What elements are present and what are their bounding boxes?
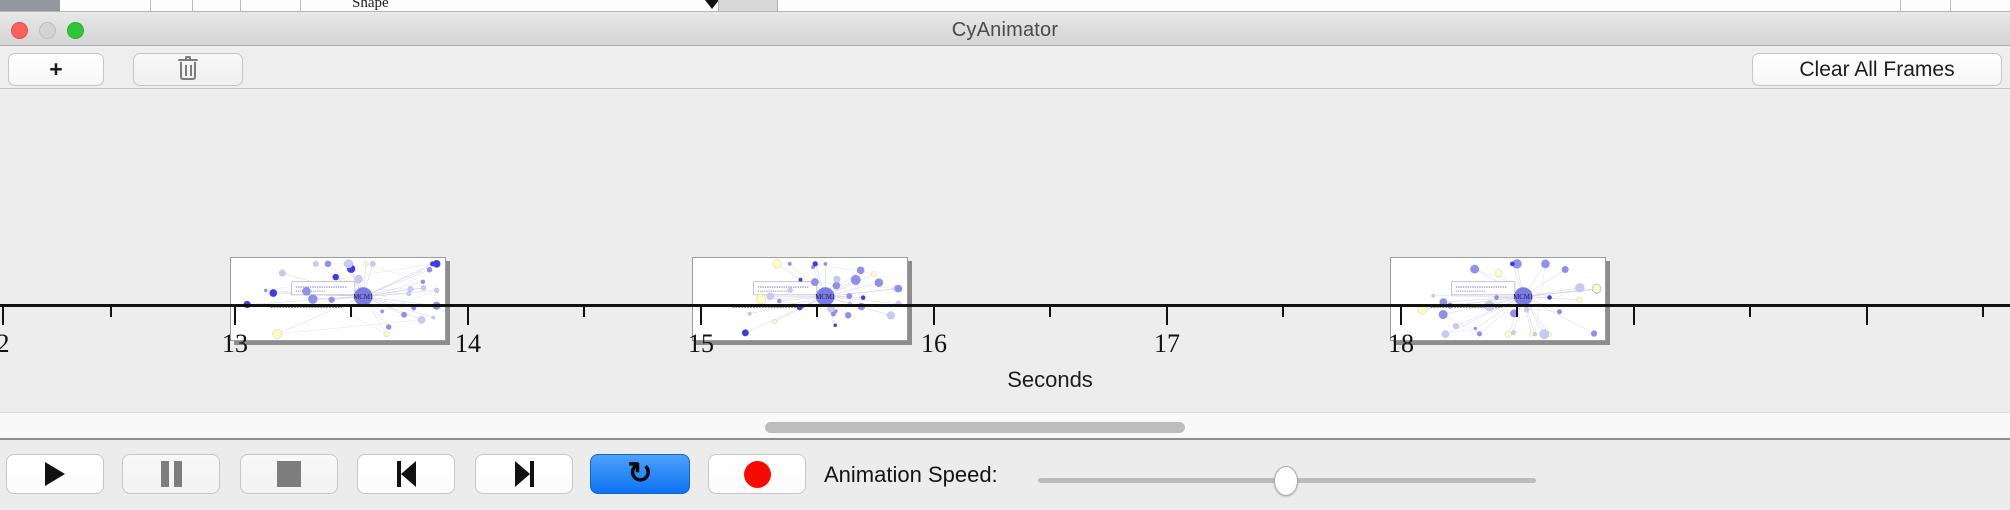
axis-tick-label: 15 [688,329,714,359]
title-bar[interactable]: CyAnimator [0,12,2010,46]
plus-icon: + [49,56,62,83]
pause-button[interactable] [122,454,220,494]
timeline-axis [0,304,2010,307]
timeline-scrollbar[interactable] [0,412,2010,440]
stop-icon [277,461,301,487]
background-divider [1900,0,1901,12]
keyframe-thumbnail[interactable]: MCM1 [692,257,908,341]
axis-tick-major [234,307,236,325]
record-button[interactable] [708,454,806,494]
keyframe-thumbnail[interactable]: MCM1 [1390,257,1606,341]
axis-tick-minor [1282,307,1284,317]
pause-icon [161,461,182,487]
axis-tick-minor [1749,307,1751,317]
axis-tick-minor [1049,307,1051,317]
background-divider [192,0,193,12]
axis-title: Seconds [0,367,2010,393]
background-caret-icon [705,0,719,9]
axis-tick-label: 2 [0,329,10,359]
axis-tick-minor [110,307,112,317]
axis-tick-label: 14 [455,329,481,359]
animation-speed-slider[interactable] [1038,478,1536,483]
axis-tick-minor [1516,307,1518,317]
axis-tick-minor [816,307,818,317]
add-frame-button[interactable]: + [8,53,104,86]
record-icon [744,461,771,488]
timeline-panel[interactable]: MCM1 MCM1 MCM1 2131415161718 Seconds [0,89,2010,412]
loop-button[interactable]: ↻ [590,454,690,494]
background-divider [1950,0,1951,12]
next-frame-button[interactable] [475,454,573,494]
svg-text:MCM1: MCM1 [815,294,835,301]
loop-icon: ↻ [627,459,652,489]
axis-tick-major [467,307,469,325]
axis-title-label: Seconds [1007,367,1093,392]
animation-speed-label: Animation Speed: [824,462,998,488]
background-divider [300,0,301,12]
background-window-strip: Shape [0,0,2010,12]
svg-text:MCM1: MCM1 [353,294,373,301]
background-strip-dark-block [0,0,60,12]
axis-tick-label: 18 [1388,329,1414,359]
axis-tick-major [1866,307,1868,325]
skip-forward-icon [515,461,534,487]
trash-icon [178,58,198,81]
axis-tick-major [700,307,702,325]
stop-button[interactable] [240,454,338,494]
delete-frame-button[interactable] [133,53,243,86]
window-title: CyAnimator [0,19,2010,42]
clear-all-frames-button[interactable]: Clear All Frames [1752,53,2002,86]
axis-tick-major [933,307,935,325]
axis-tick-major [1633,307,1635,325]
clear-all-frames-label: Clear All Frames [1799,58,1954,82]
skip-backward-icon [397,461,416,487]
toolbar: + Clear All Frames [0,46,2010,89]
axis-tick-major [1166,307,1168,325]
play-button[interactable] [6,454,104,494]
background-divider [150,0,151,12]
play-icon [45,462,65,486]
axis-tick-minor [350,307,352,317]
background-tab-label: Shape [352,0,389,12]
background-slab [718,0,778,12]
background-divider [240,0,241,12]
timeline-scrollbar-thumb[interactable] [765,422,1185,433]
axis-tick-major [2,307,4,325]
axis-tick-label: 16 [921,329,947,359]
axis-tick-label: 17 [1154,329,1180,359]
playback-controls: ↻ Animation Speed: [0,442,2010,510]
previous-frame-button[interactable] [357,454,455,494]
axis-tick-minor [1982,307,1984,317]
axis-tick-minor [583,307,585,317]
animation-speed-slider-knob[interactable] [1274,466,1298,496]
cyanimator-window: Shape CyAnimator + Clear All Frames [0,0,2010,510]
svg-text:MCM1: MCM1 [1513,294,1533,301]
keyframe-thumbnail[interactable]: MCM1 [230,257,446,341]
axis-tick-major [1400,307,1402,325]
axis-tick-label: 13 [222,329,248,359]
